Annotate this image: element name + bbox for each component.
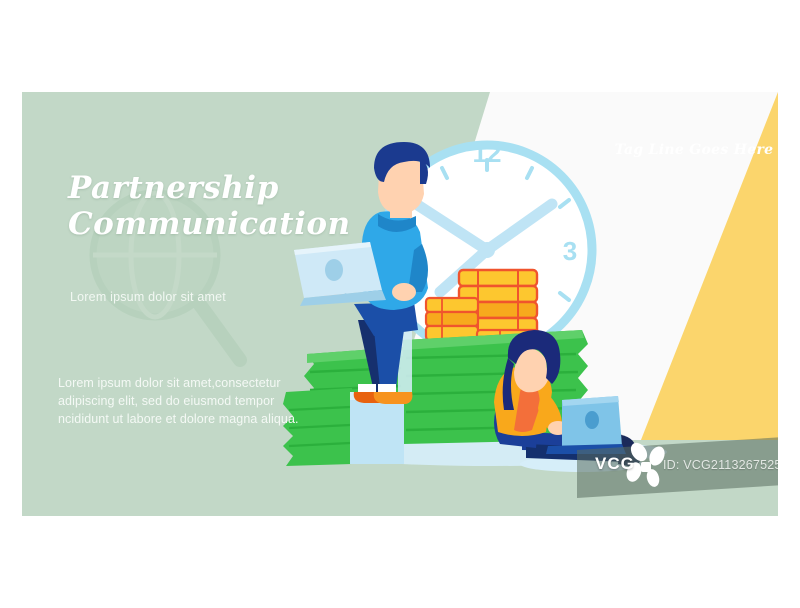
headline-line-2: Communication [68, 206, 398, 242]
man-sock [378, 384, 396, 393]
body-copy: Lorem ipsum dolor sit amet,consectetur a… [58, 374, 338, 428]
man-sock-2 [358, 384, 376, 393]
man-shoe-front [374, 392, 413, 404]
banner-artboard: 12 3 9 [22, 92, 778, 516]
body-line-1: Lorem ipsum dolor sit amet,consectetur [58, 374, 338, 392]
page-title: Partnership Communication [68, 170, 398, 242]
illustration-canvas: 12 3 9 [0, 0, 800, 608]
body-line-3: ncididunt ut labore et dolore magna aliq… [58, 410, 338, 428]
subtitle: Lorem ipsum dolor sit amet [70, 290, 370, 304]
man-hand-right [392, 283, 416, 301]
body-line-2: adipiscing elit, sed do eiusmod tempor [58, 392, 338, 410]
headline-line-1: Partnership [68, 170, 398, 206]
coin-stack-short-left [426, 298, 478, 340]
tagline: Tag Line Goes Here [604, 142, 778, 158]
